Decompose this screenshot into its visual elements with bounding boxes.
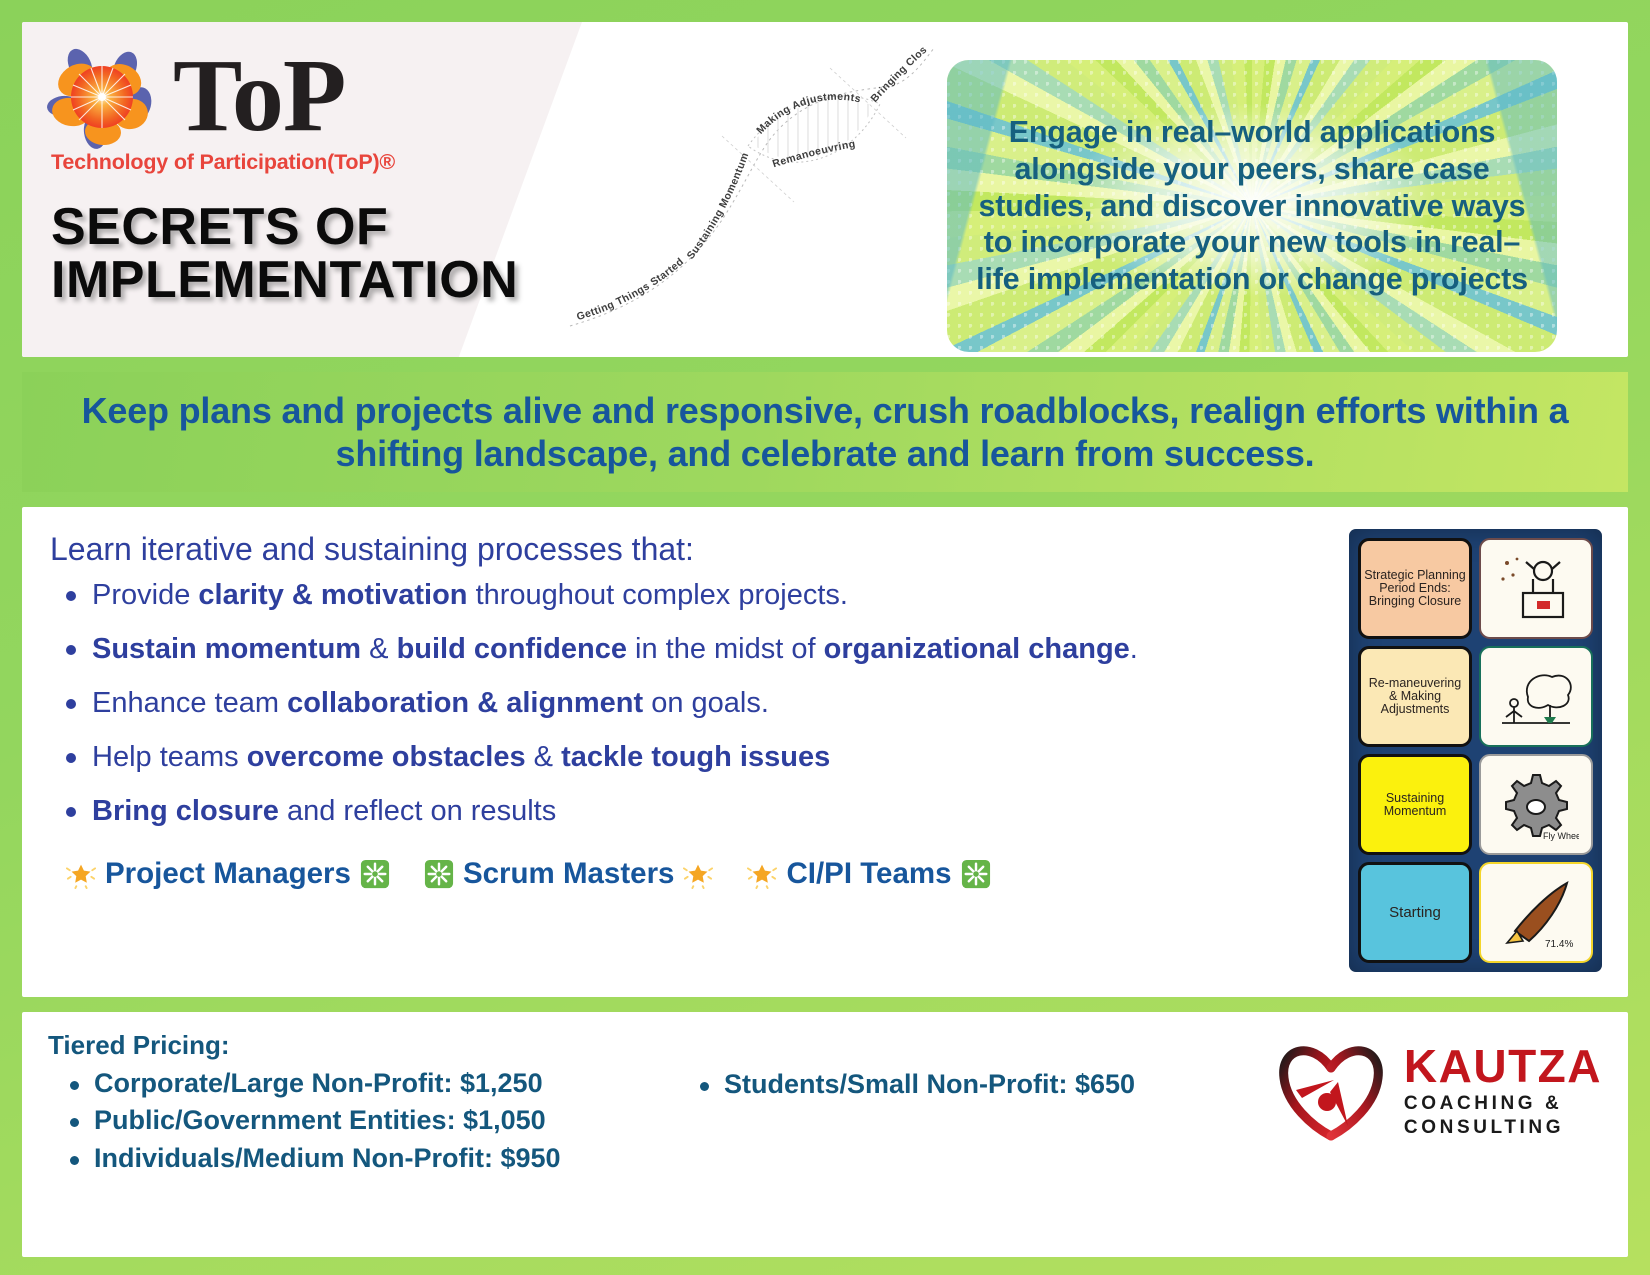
scurve-label-1: Sustaining Momentum bbox=[685, 151, 752, 262]
green-eight-spoked-asterisk-icon bbox=[961, 859, 991, 889]
audience-label: Project Managers bbox=[105, 857, 351, 891]
audience-badge-2: CI/PI Teams bbox=[747, 857, 990, 891]
kautza-name: KAUTZA bbox=[1404, 1043, 1602, 1089]
kautza-atom-logo-icon bbox=[1272, 1034, 1390, 1146]
rocket-launch-sketch: 71.4% bbox=[1479, 862, 1593, 963]
top-flower-logo-icon bbox=[47, 40, 165, 152]
pricing-left-column: Tiered Pricing: Corporate/Large Non-Prof… bbox=[44, 1030, 664, 1177]
list-item: Enhance team collaboration & alignment o… bbox=[92, 685, 1339, 722]
flywheel-caption: Fly Wheel bbox=[1543, 831, 1579, 841]
gear-flywheel-sketch: Fly Wheel bbox=[1479, 754, 1593, 855]
rocket-caption: 71.4% bbox=[1545, 939, 1573, 950]
green-eight-spoked-asterisk-icon bbox=[360, 859, 390, 889]
page-title-line2: IMPLEMENTATION bbox=[51, 254, 567, 307]
pricing-heading: Tiered Pricing: bbox=[48, 1030, 664, 1061]
scurve-label-4: Bringing Closure bbox=[562, 40, 930, 105]
glowing-star-icon bbox=[747, 859, 777, 889]
glowing-star-icon bbox=[683, 859, 713, 889]
s-curve-journey-diagram: Getting Things Started Sustaining Moment… bbox=[562, 40, 962, 340]
top-tagline: Technology of Participation(ToP)® bbox=[51, 150, 567, 175]
audience-label: Scrum Masters bbox=[463, 857, 675, 891]
storyboard-card-3: Starting bbox=[1358, 862, 1472, 963]
audience-badge-0: Project Managers bbox=[66, 857, 390, 891]
list-item: Help teams overcome obstacles & tackle t… bbox=[92, 739, 1339, 776]
pricing-left-list: Corporate/Large Non-Profit: $1,250Public… bbox=[44, 1065, 664, 1177]
poster-root: ToP Technology of Participation(ToP)® SE… bbox=[0, 0, 1650, 1275]
page-title-line1: SECRETS OF bbox=[51, 201, 567, 254]
kautza-logo: KAUTZA COACHING & CONSULTING bbox=[1272, 1034, 1602, 1146]
victory-chart-sketch bbox=[1479, 538, 1593, 639]
engage-callout-box: Engage in real–world applications alongs… bbox=[947, 60, 1557, 352]
audience-badges-row: Project ManagersScrum MastersCI/PI Teams bbox=[66, 857, 1339, 891]
green-eight-spoked-asterisk-icon bbox=[424, 859, 454, 889]
brand-block: ToP Technology of Participation(ToP)® SE… bbox=[47, 40, 567, 307]
storyboard-card-2: Sustaining Momentum bbox=[1358, 754, 1472, 855]
workshop-storyboard-photo: Strategic Planning Period Ends: Bringing… bbox=[1349, 529, 1602, 972]
list-item: Individuals/Medium Non-Profit: $950 bbox=[94, 1140, 664, 1177]
list-item: Provide clarity & motivation throughout … bbox=[92, 577, 1339, 614]
engage-callout-text: Engage in real–world applications alongs… bbox=[947, 108, 1557, 304]
pricing-panel: Tiered Pricing: Corporate/Large Non-Prof… bbox=[22, 1012, 1628, 1257]
storyboard-card-1: Re-maneuvering & Making Adjustments bbox=[1358, 646, 1472, 747]
scurve-label-3: Remanoeuvring bbox=[771, 138, 857, 170]
kautza-sub-line1: COACHING & bbox=[1404, 1094, 1602, 1113]
audience-badge-1: Scrum Masters bbox=[424, 857, 714, 891]
list-item: Public/Government Entities: $1,050 bbox=[94, 1102, 664, 1139]
storyboard-card-0: Strategic Planning Period Ends: Bringing… bbox=[1358, 538, 1472, 639]
top-wordmark: ToP bbox=[173, 48, 345, 144]
lead-text: Learn iterative and sustaining processes… bbox=[50, 529, 1339, 569]
tree-person-sketch bbox=[1479, 646, 1593, 747]
list-item: Bring closure and reflect on results bbox=[92, 793, 1339, 830]
header-panel: ToP Technology of Participation(ToP)® SE… bbox=[22, 22, 1628, 357]
kautza-sub-line2: CONSULTING bbox=[1404, 1118, 1602, 1137]
list-item: Corporate/Large Non-Profit: $1,250 bbox=[94, 1065, 664, 1102]
main-content-panel: Learn iterative and sustaining processes… bbox=[22, 507, 1628, 997]
list-item: Sustain momentum & build confidence in t… bbox=[92, 631, 1339, 668]
benefits-list: Provide clarity & motivation throughout … bbox=[48, 577, 1339, 831]
top-logo-row: ToP bbox=[47, 40, 567, 152]
tagline-band: Keep plans and projects alive and respon… bbox=[22, 372, 1628, 492]
audience-label: CI/PI Teams bbox=[786, 857, 951, 891]
glowing-star-icon bbox=[66, 859, 96, 889]
tagline-text: Keep plans and projects alive and respon… bbox=[62, 389, 1588, 475]
scurve-label-0: Getting Things Started bbox=[575, 256, 686, 324]
main-left-column: Learn iterative and sustaining processes… bbox=[48, 529, 1339, 987]
kautza-wordmark: KAUTZA COACHING & CONSULTING bbox=[1404, 1043, 1602, 1137]
page-title: SECRETS OF IMPLEMENTATION bbox=[51, 201, 567, 307]
